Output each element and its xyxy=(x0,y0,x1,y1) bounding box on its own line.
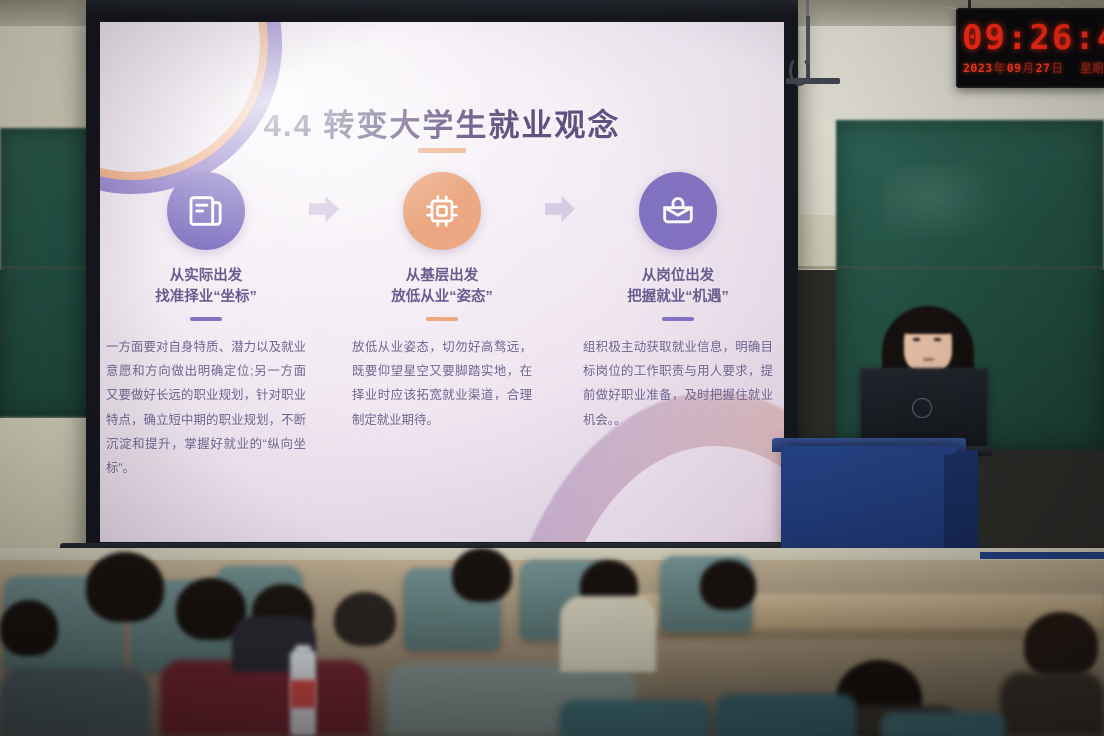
column-3-heading: 从岗位出发 把握就业“机遇” xyxy=(627,266,729,308)
clock-month-unit: 月 xyxy=(1022,61,1036,75)
screen-hook-bar xyxy=(786,78,840,84)
clock-year-unit: 年 xyxy=(993,61,1007,75)
cpu-chip-icon xyxy=(403,172,481,250)
chair xyxy=(560,700,710,736)
chalkboard-left xyxy=(0,128,96,418)
audience-torso xyxy=(560,596,656,672)
column-2-heading-line1: 从基层出发 xyxy=(391,266,493,287)
audience-head xyxy=(1024,612,1098,678)
briefcase-lock-icon xyxy=(639,172,717,250)
presenter-mouth xyxy=(923,358,934,361)
chair xyxy=(880,712,1006,736)
column-1-body: 一方面要对自身特质、潜力以及就业意愿和方向做出明确定位;另一方面又要做好长远的职… xyxy=(106,335,306,480)
presenter-eye-left xyxy=(913,338,920,341)
column-3-heading-line1: 从岗位出发 xyxy=(627,266,729,287)
audience-head xyxy=(452,548,512,602)
arrow-right-icon-2 xyxy=(545,196,575,222)
digital-clock: 09:26:4 2023年09月27日 星期3 xyxy=(956,8,1104,88)
laptop-logo xyxy=(912,398,932,418)
clock-year: 2023 xyxy=(963,61,993,75)
clock-day: 27 xyxy=(1036,61,1051,75)
audience-torso xyxy=(0,668,150,736)
slide-column-3: 从岗位出发 把握就业“机遇” 组积极主动获取就业信息，明确目标岗位的工作职责与用… xyxy=(578,172,778,432)
column-2-rule xyxy=(426,317,458,321)
audience-head xyxy=(86,552,164,622)
column-3-body: 组积极主动获取就业信息，明确目标岗位的工作职责与用人要求，提前做好职业准备，及时… xyxy=(583,335,773,432)
presenter-eye-right xyxy=(934,338,941,341)
lecture-hall-photo: 4.4 转变大学生就业观念 从实际出发 找准择 xyxy=(0,0,1104,736)
clock-month: 09 xyxy=(1007,61,1022,75)
column-1-heading: 从实际出发 找准择业“坐标” xyxy=(155,266,257,308)
column-1-heading-line1: 从实际出发 xyxy=(155,266,257,287)
clock-weekday-label: 星期 xyxy=(1079,61,1104,75)
audience-head xyxy=(334,592,396,646)
column-1-heading-line2: 找准择业“坐标” xyxy=(155,287,257,308)
document-icon xyxy=(167,172,245,250)
column-3-rule xyxy=(662,317,694,321)
audience-head xyxy=(700,560,756,610)
presentation-slide: 4.4 转变大学生就业观念 从实际出发 找准择 xyxy=(100,22,784,542)
column-2-body: 放低从业姿态，切勿好高骛远，既要仰望星空又要脚踏实地，在择业时应该拓宽就业渠道，… xyxy=(352,335,532,432)
chair xyxy=(716,694,856,736)
slide-columns: 从实际出发 找准择业“坐标” 一方面要对自身特质、潜力以及就业意愿和方向做出明确… xyxy=(106,172,778,512)
water-bottle-cap xyxy=(295,645,311,654)
column-1-rule xyxy=(190,317,222,321)
slide-column-1: 从实际出发 找准择业“坐标” 一方面要对自身特质、潜力以及就业意愿和方向做出明确… xyxy=(106,172,306,480)
water-bottle-label xyxy=(290,680,316,708)
slide-title: 4.4 转变大学生就业观念 xyxy=(100,100,784,145)
presenter-fringe xyxy=(900,308,956,334)
slide-title-underline xyxy=(418,148,466,153)
clock-time: 09:26:4 xyxy=(962,16,1104,60)
wall-rail xyxy=(980,552,1104,559)
column-2-heading: 从基层出发 放低从业“姿态” xyxy=(391,266,493,308)
audience-torso xyxy=(1000,672,1104,736)
clock-day-unit: 日 xyxy=(1050,61,1064,75)
slide-column-2: 从基层出发 放低从业“姿态” 放低从业姿态，切勿好高骛远，既要仰望星空又要脚踏实… xyxy=(342,172,542,432)
arrow-right-icon-1 xyxy=(309,196,339,222)
clock-date: 2023年09月27日 星期3 xyxy=(963,60,1104,76)
audience-head xyxy=(0,600,58,656)
column-2-heading-line2: 放低从业“姿态” xyxy=(391,287,493,308)
projection-screen-top-bar xyxy=(86,0,798,18)
column-3-heading-line2: 把握就业“机遇” xyxy=(627,287,729,308)
